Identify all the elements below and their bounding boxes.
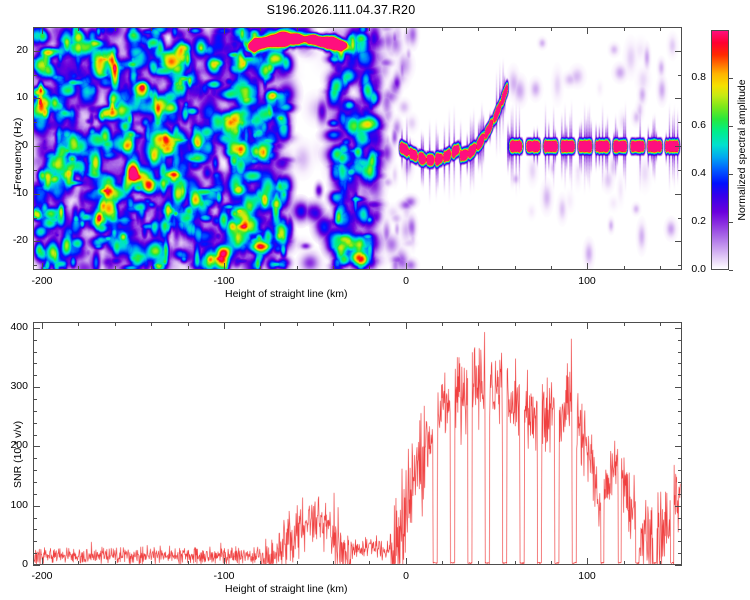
y-tick-minor bbox=[678, 470, 682, 471]
colorbar-tick-label: 0.6 bbox=[676, 119, 706, 131]
x-tick-minor bbox=[151, 266, 152, 270]
y-tick-major bbox=[675, 506, 682, 507]
x-tick-minor bbox=[333, 561, 334, 565]
y-tick-major bbox=[675, 146, 682, 147]
y-tick-major bbox=[675, 387, 682, 388]
x-tick-minor bbox=[369, 561, 370, 565]
y-tick-minor bbox=[33, 470, 37, 471]
y-tick-minor bbox=[33, 75, 37, 76]
y-tick-label: 20 bbox=[0, 44, 28, 56]
x-tick-label: 0 bbox=[378, 275, 434, 287]
y-tick-label: 400 bbox=[0, 321, 28, 333]
snr-x-axis-title: Height of straight line (km) bbox=[225, 583, 348, 595]
x-tick-minor bbox=[151, 27, 152, 31]
y-tick-minor bbox=[33, 27, 37, 28]
x-tick-minor bbox=[115, 561, 116, 565]
y-tick-major bbox=[675, 328, 682, 329]
x-tick-label: -200 bbox=[14, 275, 70, 287]
x-tick-minor bbox=[442, 561, 443, 565]
y-tick-major bbox=[33, 146, 40, 147]
x-tick-minor bbox=[333, 322, 334, 326]
x-tick-minor bbox=[297, 27, 298, 31]
x-tick-minor bbox=[78, 266, 79, 270]
y-tick-minor bbox=[33, 529, 37, 530]
x-tick-minor bbox=[369, 27, 370, 31]
x-tick-minor bbox=[188, 561, 189, 565]
colorbar-tick-label: 0.2 bbox=[676, 215, 706, 227]
x-tick-label: 100 bbox=[559, 275, 615, 287]
x-tick-major bbox=[406, 322, 407, 329]
y-tick-minor bbox=[33, 352, 37, 353]
x-tick-minor bbox=[660, 27, 661, 31]
colorbar-tick bbox=[729, 270, 733, 271]
y-tick-major bbox=[33, 51, 40, 52]
y-tick-minor bbox=[678, 482, 682, 483]
x-tick-major bbox=[224, 322, 225, 329]
y-tick-minor bbox=[33, 494, 37, 495]
y-tick-minor bbox=[33, 423, 37, 424]
snr-panel bbox=[33, 322, 682, 565]
x-tick-major bbox=[406, 263, 407, 270]
y-tick-minor bbox=[678, 27, 682, 28]
x-tick-minor bbox=[442, 322, 443, 326]
x-tick-minor bbox=[115, 266, 116, 270]
x-tick-minor bbox=[660, 322, 661, 326]
x-tick-minor bbox=[188, 266, 189, 270]
x-tick-label: -100 bbox=[196, 570, 252, 582]
x-tick-major bbox=[224, 27, 225, 34]
snr-y-axis-title: SNR (10 * v/v) bbox=[12, 421, 24, 488]
x-tick-minor bbox=[188, 322, 189, 326]
x-tick-minor bbox=[515, 266, 516, 270]
x-tick-major bbox=[587, 322, 588, 329]
y-tick-minor bbox=[678, 541, 682, 542]
x-tick-minor bbox=[188, 27, 189, 31]
y-tick-major bbox=[33, 565, 40, 566]
y-tick-major bbox=[675, 98, 682, 99]
x-tick-minor bbox=[260, 322, 261, 326]
y-tick-minor bbox=[33, 122, 37, 123]
x-tick-major bbox=[587, 27, 588, 34]
y-tick-major bbox=[675, 194, 682, 195]
y-tick-minor bbox=[678, 529, 682, 530]
x-tick-minor bbox=[515, 27, 516, 31]
x-tick-minor bbox=[660, 561, 661, 565]
x-tick-major bbox=[42, 322, 43, 329]
x-tick-minor bbox=[515, 322, 516, 326]
x-tick-minor bbox=[478, 27, 479, 31]
x-tick-minor bbox=[624, 27, 625, 31]
x-tick-label: 0 bbox=[378, 570, 434, 582]
spectrogram-y-axis-title: Frequency (Hz) bbox=[12, 118, 24, 190]
x-tick-minor bbox=[115, 27, 116, 31]
x-tick-minor bbox=[551, 322, 552, 326]
figure-root: S196.2026.111.04.37.R20 -200-1000100-20-… bbox=[0, 0, 750, 600]
y-tick-minor bbox=[33, 553, 37, 554]
x-tick-minor bbox=[551, 27, 552, 31]
x-tick-major bbox=[587, 263, 588, 270]
x-tick-label: -200 bbox=[14, 570, 70, 582]
x-tick-major bbox=[224, 558, 225, 565]
x-tick-major bbox=[42, 263, 43, 270]
colorbar-tick-label: 0.4 bbox=[676, 167, 706, 179]
y-tick-major bbox=[33, 98, 40, 99]
x-tick-minor bbox=[297, 561, 298, 565]
y-tick-minor bbox=[678, 352, 682, 353]
x-tick-minor bbox=[478, 561, 479, 565]
x-tick-minor bbox=[369, 322, 370, 326]
x-tick-label: -100 bbox=[196, 275, 252, 287]
y-tick-minor bbox=[678, 340, 682, 341]
y-tick-minor bbox=[33, 518, 37, 519]
colorbar-tick-label: 0.8 bbox=[676, 71, 706, 83]
x-tick-major bbox=[406, 27, 407, 34]
y-tick-major bbox=[33, 241, 40, 242]
y-tick-major bbox=[33, 387, 40, 388]
y-tick-minor bbox=[678, 411, 682, 412]
x-tick-minor bbox=[260, 561, 261, 565]
x-tick-minor bbox=[515, 561, 516, 565]
x-tick-minor bbox=[78, 27, 79, 31]
x-tick-minor bbox=[551, 561, 552, 565]
y-tick-major bbox=[33, 328, 40, 329]
x-tick-minor bbox=[151, 561, 152, 565]
snr-canvas bbox=[34, 323, 681, 564]
y-tick-minor bbox=[33, 411, 37, 412]
y-tick-label: -20 bbox=[0, 234, 28, 246]
spectrogram-panel bbox=[33, 27, 682, 270]
x-tick-minor bbox=[333, 27, 334, 31]
y-tick-minor bbox=[33, 340, 37, 341]
y-tick-minor bbox=[33, 541, 37, 542]
colorbar-tick bbox=[729, 174, 733, 175]
y-tick-minor bbox=[33, 482, 37, 483]
y-tick-minor bbox=[678, 375, 682, 376]
y-tick-minor bbox=[33, 435, 37, 436]
x-tick-minor bbox=[369, 266, 370, 270]
y-tick-minor bbox=[678, 435, 682, 436]
y-tick-major bbox=[675, 446, 682, 447]
y-tick-major bbox=[675, 565, 682, 566]
y-tick-minor bbox=[33, 265, 37, 266]
x-tick-major bbox=[42, 27, 43, 34]
x-tick-minor bbox=[78, 561, 79, 565]
y-tick-major bbox=[33, 506, 40, 507]
x-tick-minor bbox=[442, 266, 443, 270]
y-tick-major bbox=[675, 51, 682, 52]
x-tick-minor bbox=[551, 266, 552, 270]
y-tick-minor bbox=[33, 458, 37, 459]
y-tick-minor bbox=[678, 553, 682, 554]
y-tick-major bbox=[33, 194, 40, 195]
figure-title: S196.2026.111.04.37.R20 bbox=[0, 3, 682, 17]
colorbar-tick bbox=[729, 78, 733, 79]
colorbar-title: Normalized spectral amplitude bbox=[736, 79, 748, 220]
y-tick-major bbox=[675, 241, 682, 242]
x-tick-minor bbox=[297, 322, 298, 326]
x-tick-minor bbox=[151, 322, 152, 326]
x-tick-minor bbox=[624, 266, 625, 270]
x-tick-minor bbox=[260, 27, 261, 31]
y-tick-minor bbox=[678, 494, 682, 495]
y-tick-minor bbox=[33, 363, 37, 364]
y-tick-minor bbox=[678, 518, 682, 519]
x-tick-minor bbox=[260, 266, 261, 270]
colorbar-gradient bbox=[711, 30, 729, 270]
colorbar-tick-label: 0.0 bbox=[676, 263, 706, 275]
y-tick-minor bbox=[678, 399, 682, 400]
y-tick-label: 0 bbox=[0, 558, 28, 570]
y-tick-minor bbox=[33, 170, 37, 171]
x-tick-minor bbox=[478, 322, 479, 326]
x-tick-minor bbox=[297, 266, 298, 270]
colorbar-tick bbox=[729, 126, 733, 127]
x-tick-minor bbox=[624, 322, 625, 326]
y-tick-minor bbox=[33, 399, 37, 400]
y-tick-minor bbox=[678, 363, 682, 364]
x-tick-minor bbox=[333, 266, 334, 270]
x-tick-minor bbox=[115, 322, 116, 326]
colorbar-tick bbox=[729, 222, 733, 223]
y-tick-label: 100 bbox=[0, 499, 28, 511]
y-tick-minor bbox=[678, 458, 682, 459]
x-tick-major bbox=[406, 558, 407, 565]
x-tick-major bbox=[42, 558, 43, 565]
x-tick-major bbox=[587, 558, 588, 565]
spectrogram-x-axis-title: Height of straight line (km) bbox=[225, 288, 348, 300]
x-tick-minor bbox=[624, 561, 625, 565]
y-tick-minor bbox=[678, 423, 682, 424]
x-tick-minor bbox=[442, 27, 443, 31]
spectrogram-canvas bbox=[34, 28, 681, 269]
y-tick-label: 10 bbox=[0, 91, 28, 103]
x-tick-minor bbox=[78, 322, 79, 326]
y-tick-label: 300 bbox=[0, 380, 28, 392]
x-tick-minor bbox=[478, 266, 479, 270]
x-tick-minor bbox=[660, 266, 661, 270]
y-tick-minor bbox=[33, 218, 37, 219]
x-tick-major bbox=[224, 263, 225, 270]
y-tick-major bbox=[33, 446, 40, 447]
y-tick-minor bbox=[33, 375, 37, 376]
x-tick-label: 100 bbox=[559, 570, 615, 582]
